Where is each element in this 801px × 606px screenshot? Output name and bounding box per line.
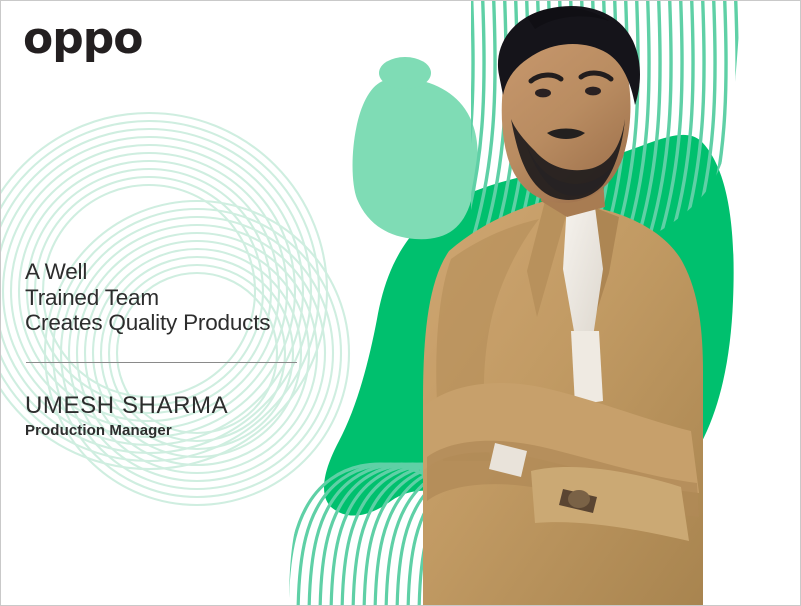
concentric-rings-group-lower [45, 201, 349, 505]
promo-card: oppo [0, 0, 801, 606]
person-photo [331, 1, 801, 606]
oppo-logo: oppo [23, 17, 142, 61]
person-role: Production Manager [25, 422, 172, 440]
head [498, 6, 640, 203]
headline-line-2: Trained Team [25, 285, 325, 311]
divider [26, 362, 297, 363]
headline-line-3: Creates Quality Products [25, 310, 325, 336]
headline: A Well Trained Team Creates Quality Prod… [25, 259, 325, 336]
portrait-illustration [331, 1, 801, 606]
headline-line-1: A Well [25, 259, 325, 285]
person-name: UMESH SHARMA [25, 393, 228, 419]
